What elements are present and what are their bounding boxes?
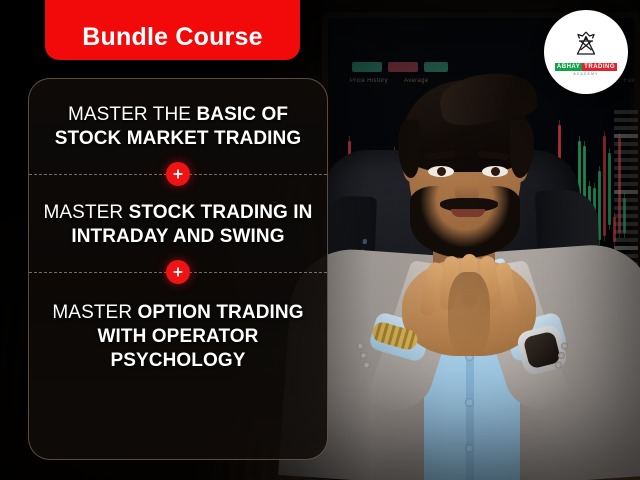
course-item-1: MASTER THE BASIC OF STOCK MARKET TRADING: [43, 103, 313, 151]
brand-logo-word-red: TRADING: [582, 63, 617, 71]
plus-icon: [166, 260, 190, 284]
shirt-button: [465, 398, 474, 407]
pupil-right: [491, 167, 500, 176]
hair-sideburn-left: [398, 120, 420, 178]
course-list-card: MASTER THE BASIC OF STOCK MARKET TRADING…: [28, 78, 328, 460]
brand-logo-word-green: ABHAY: [555, 63, 582, 71]
course-item-3-lead: MASTER: [52, 302, 137, 323]
hand-shadow: [448, 272, 490, 358]
brand-logo: ABHAYTRADING ACADEMY: [544, 10, 628, 94]
plus-icon: [166, 162, 190, 186]
mouth: [451, 209, 485, 217]
brand-logo-subtitle: ACADEMY: [573, 72, 598, 76]
course-separator-1: [43, 157, 313, 191]
shirt-button: [465, 444, 474, 453]
course-item-2: MASTER STOCK TRADING IN INTRADAY AND SWI…: [43, 201, 313, 249]
bundle-course-badge: Bundle Course: [45, 0, 300, 60]
hair-sideburn-right: [510, 120, 534, 178]
pupil-left: [437, 167, 446, 176]
course-item-1-lead: MASTER THE: [68, 104, 197, 125]
brand-logo-wordmark: ABHAYTRADING: [555, 63, 617, 71]
abhay-trading-bull-mark-icon: [565, 29, 607, 62]
course-bundle-poster: Price History Average Average Fav R: [0, 0, 640, 480]
course-item-3: MASTER OPTION TRADING WITH OPERATOR PSYC…: [43, 301, 313, 373]
course-separator-2: [43, 255, 313, 289]
course-item-2-lead: MASTER: [43, 202, 128, 223]
bundle-course-badge-label: Bundle Course: [82, 25, 262, 50]
